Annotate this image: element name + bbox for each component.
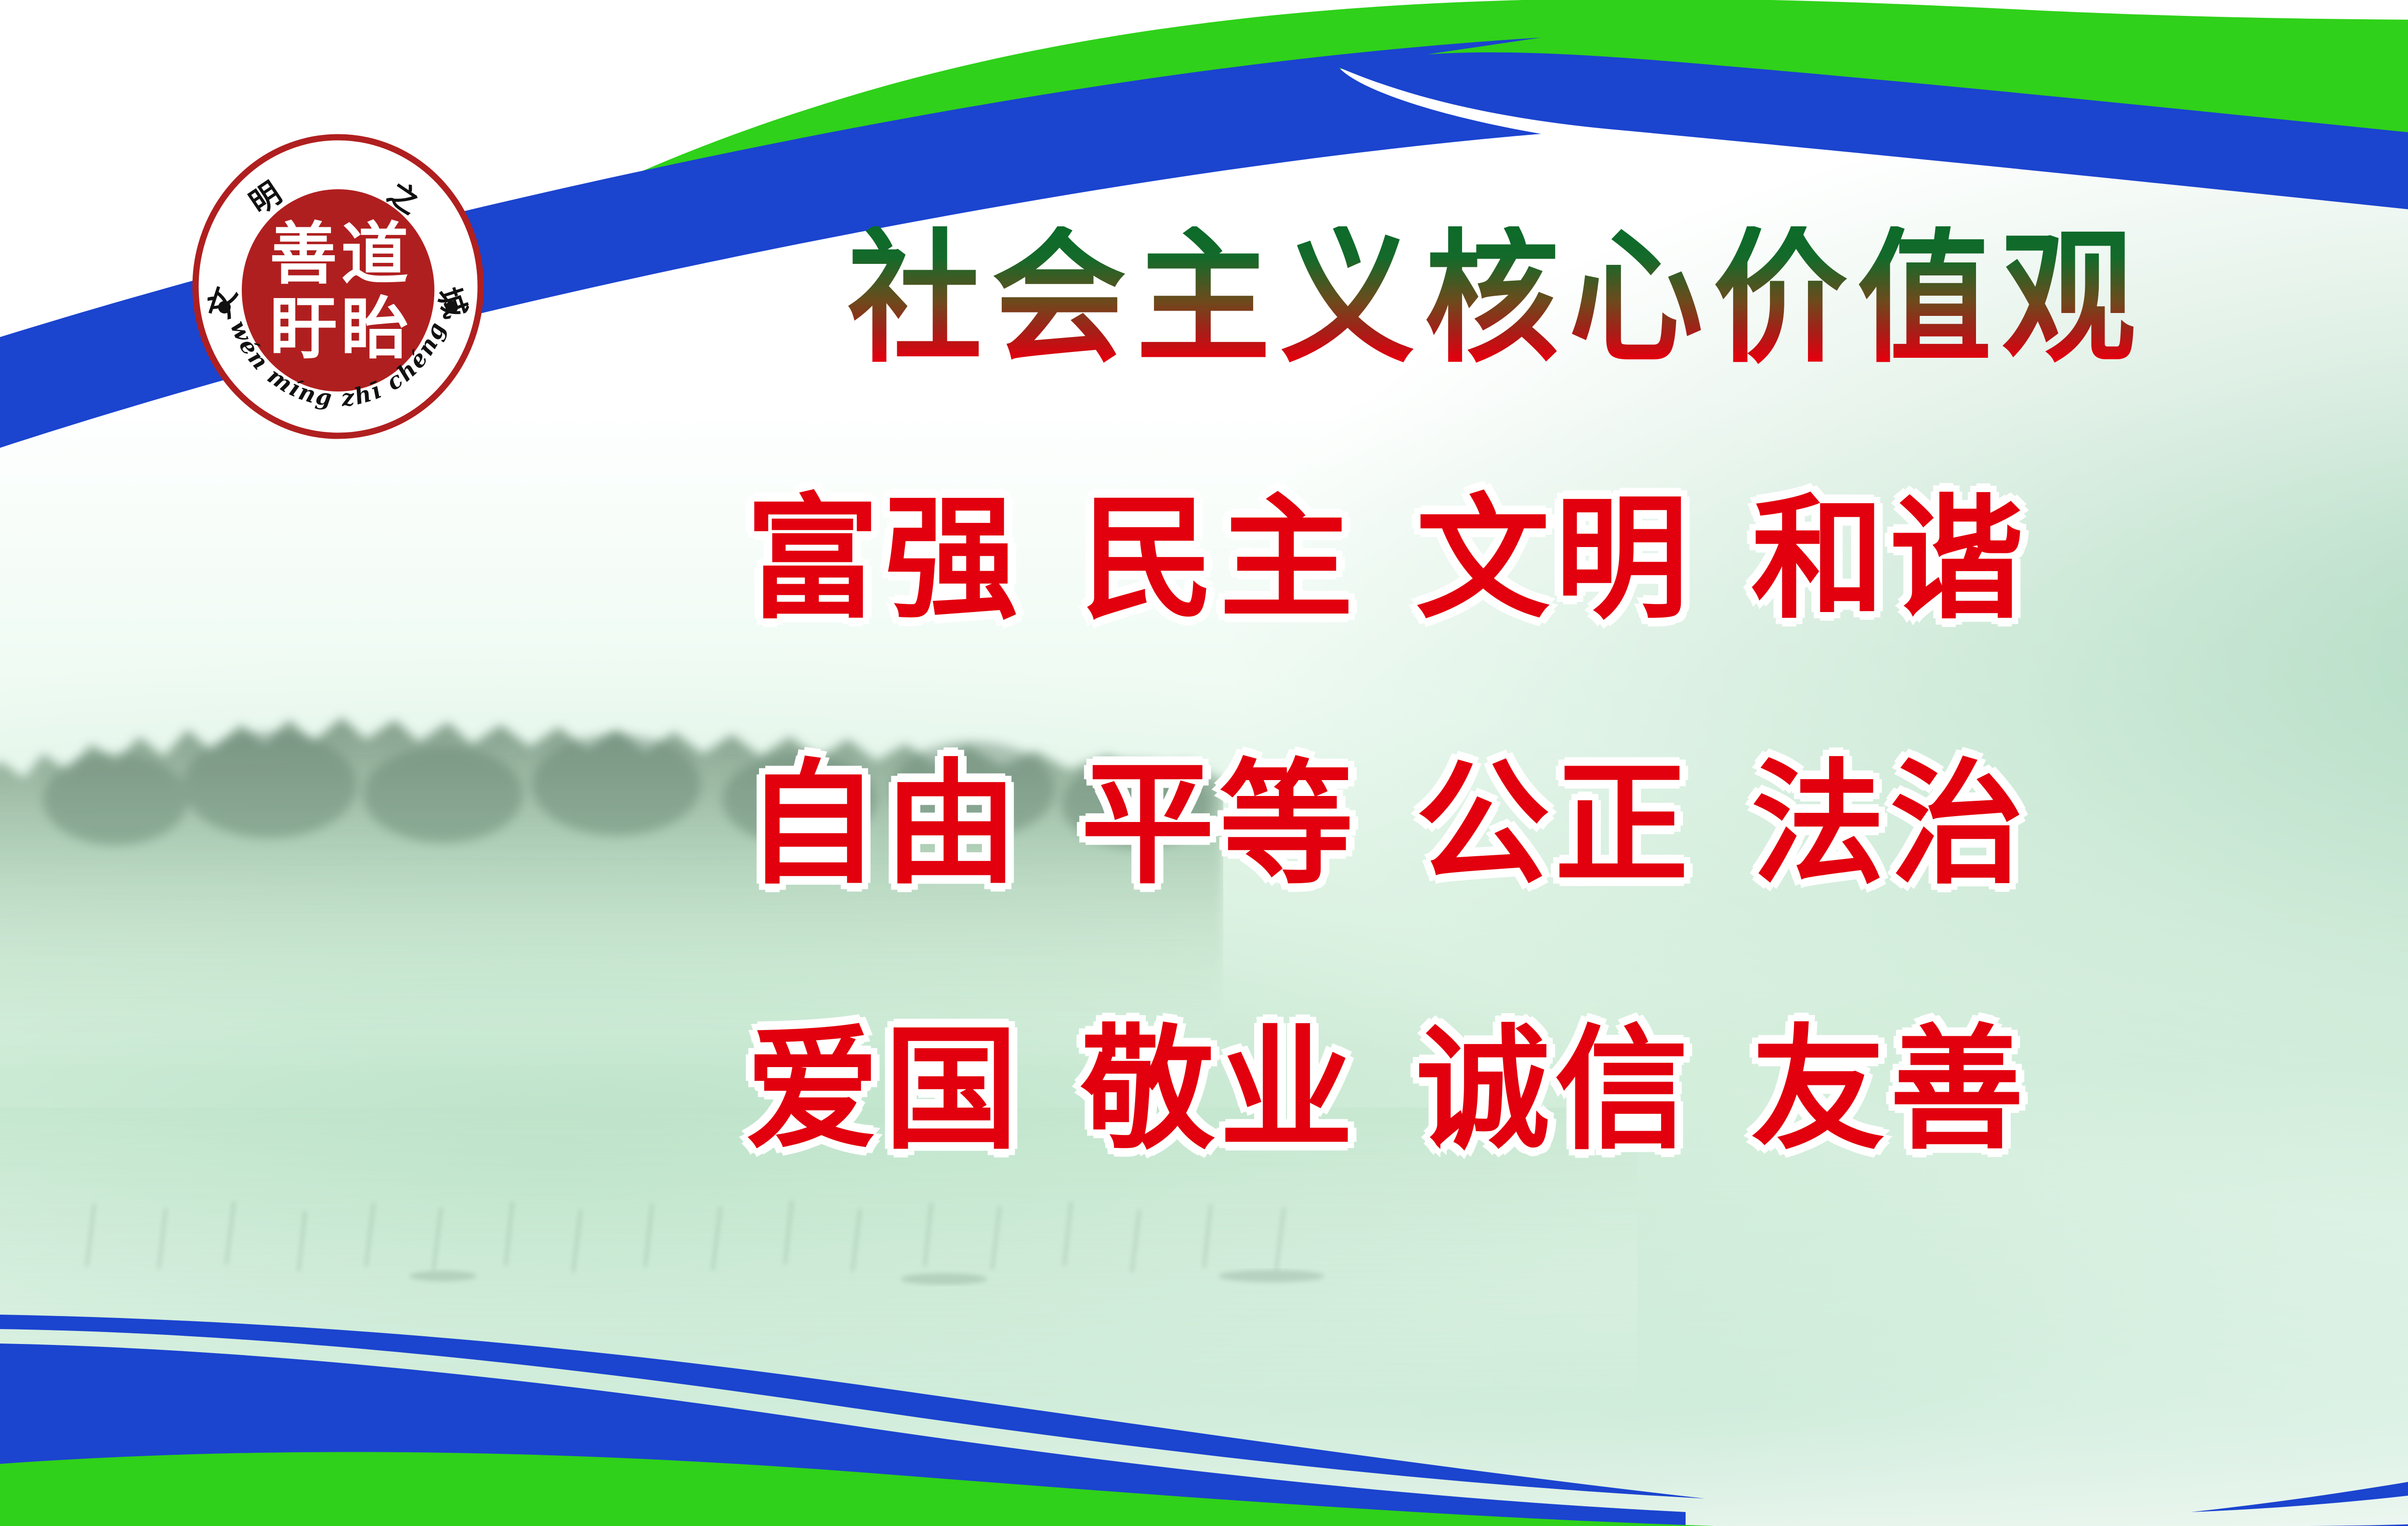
ribbon-bottom-left-blue-upper [0, 1315, 1705, 1499]
slogan-word: 自由 [746, 757, 1023, 891]
slogan-word: 友善 [1751, 1023, 2028, 1157]
slogan-word: 民主 [1081, 492, 1358, 626]
slogan-word: 文明 [1416, 492, 1693, 626]
slogan-row-3: 爱国敬业诚信友善 [746, 1023, 2408, 1157]
slogan-word: 法治 [1751, 757, 2028, 891]
propaganda-board: 文 明 之 城 善 道 盱 眙 wén míng zhī chéng 社会主义核… [0, 0, 2408, 1526]
ribbon-bottom-left-blue [0, 1343, 1686, 1526]
slogan-word: 平等 [1081, 757, 1358, 891]
slogan-row-1: 富强民主文明和谐 [746, 492, 2408, 626]
ribbon-bottom-left-green [0, 1452, 1714, 1526]
slogan-row-2: 自由平等公正法治 [746, 757, 2408, 891]
seal-inner-char-xu: 盱 [270, 289, 337, 368]
slogan-word: 敬业 [1081, 1023, 1358, 1157]
slogan-word: 公正 [1416, 757, 1693, 891]
core-socialist-values-list: 富强民主文明和谐 自由平等公正法治 爱国敬业诚信友善 [746, 492, 2408, 1157]
page-title: 社会主义核心价值观 [848, 226, 2408, 371]
ribbon-bottom-right-blue-1 [2191, 1146, 2408, 1512]
seal-inner-char-yi: 眙 [341, 289, 408, 368]
slogan-word: 爱国 [746, 1023, 1023, 1157]
slogan-word: 和谐 [1751, 492, 2028, 626]
city-emblem-seal: 文 明 之 城 善 道 盱 眙 wén míng zhī chéng [182, 117, 494, 443]
slogan-word: 诚信 [1416, 1023, 1693, 1157]
seal-inner-char-shan: 善 [270, 215, 337, 294]
slogan-word: 富强 [746, 492, 1023, 626]
seal-inner-char-dao: 道 [341, 215, 408, 294]
ribbon-bottom-right-blue-2 [2292, 1295, 2408, 1526]
